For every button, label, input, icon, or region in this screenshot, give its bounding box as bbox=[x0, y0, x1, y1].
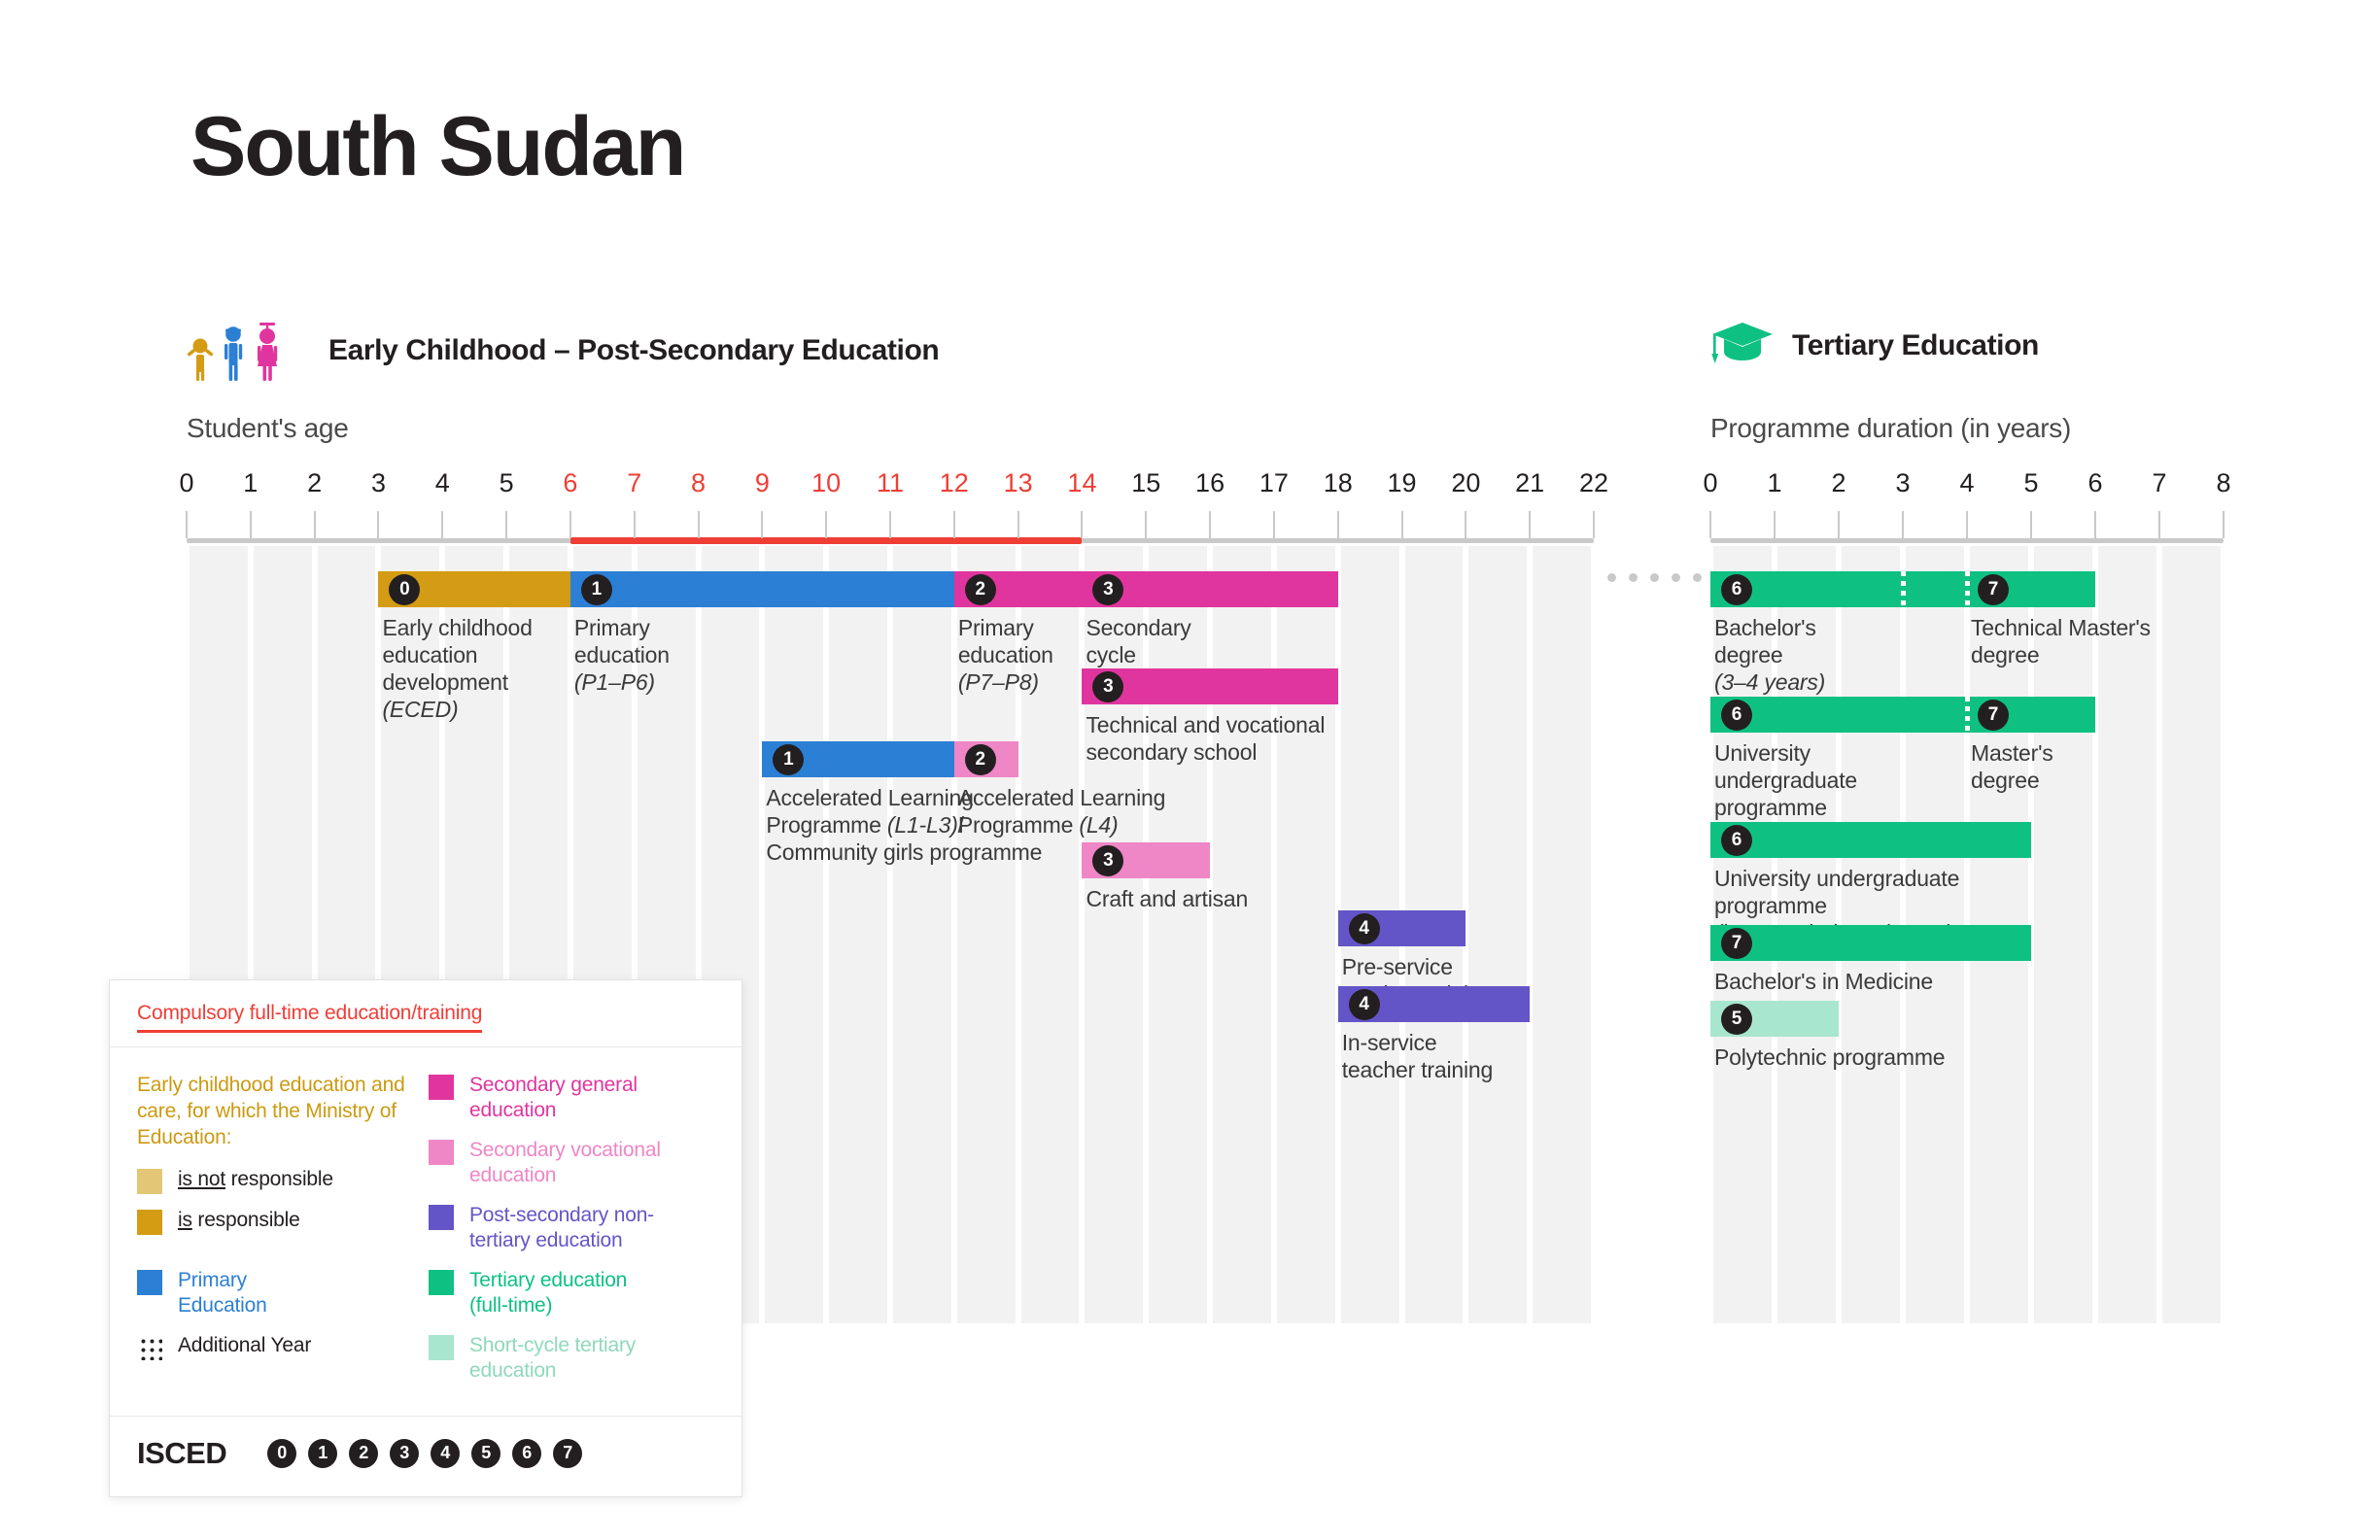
bar-label: Master'sdegree bbox=[1971, 739, 2053, 794]
axis-tick bbox=[2094, 511, 2096, 538]
bar-pre-service-teacher-training[interactable]: 4 bbox=[1338, 910, 1466, 946]
page-title: South Sudan bbox=[190, 105, 684, 188]
isced-chip-6: 6 bbox=[512, 1439, 541, 1468]
axis-tick bbox=[1774, 511, 1776, 538]
additional-year-separator bbox=[1901, 571, 1906, 607]
axis-tick-label-5: 5 bbox=[500, 468, 514, 498]
isced-badge-3: 3 bbox=[1092, 845, 1123, 876]
bar-label: Polytechnic programme bbox=[1714, 1044, 1945, 1071]
isced-badge-5: 5 bbox=[1721, 1004, 1752, 1035]
bar-primary-education[interactable]: 1 bbox=[570, 571, 954, 607]
axis-tick-label-17: 17 bbox=[1259, 468, 1289, 498]
bar-in-service-teacher-training[interactable]: 4 bbox=[1338, 986, 1530, 1022]
bar-label: Early childhoodeducationdevelopment(ECED… bbox=[382, 614, 532, 723]
legend-item-secondary-vocational: Secondary vocational education bbox=[429, 1138, 710, 1189]
isced-chip-1: 1 bbox=[308, 1439, 337, 1468]
axis-tick-label-1: 1 bbox=[1767, 468, 1781, 498]
axis-tick-label-10: 10 bbox=[811, 468, 841, 498]
axis-tick-label-19: 19 bbox=[1388, 468, 1417, 498]
legend-compulsory-label: Compulsory full-time education/training bbox=[137, 1002, 482, 1033]
legend-item-short-cycle: Short-cycle tertiary education bbox=[429, 1333, 710, 1385]
swatch-primary bbox=[137, 1270, 162, 1295]
axis-tick bbox=[634, 511, 636, 538]
axis-tick-label-16: 16 bbox=[1195, 468, 1224, 498]
isced-chip-5: 5 bbox=[471, 1439, 500, 1468]
legend-item-primary: Primary Education bbox=[137, 1268, 429, 1319]
swatch-secondary-vocational bbox=[429, 1140, 454, 1165]
swatch-short-cycle bbox=[429, 1335, 454, 1360]
axis-tick-label-8: 8 bbox=[691, 468, 706, 498]
legend-item-post-secondary: Post-secondary non-tertiary education bbox=[429, 1203, 710, 1254]
axis-tick bbox=[2030, 511, 2032, 538]
legend-compulsory-row: Compulsory full-time education/training bbox=[110, 980, 742, 1047]
axis-tick-label-7: 7 bbox=[627, 468, 641, 498]
bar-accelerated-learning-programme-l4[interactable]: 2 bbox=[954, 741, 1018, 777]
axis-tick-label-21: 21 bbox=[1515, 468, 1544, 498]
isced-badge-3: 3 bbox=[1092, 574, 1123, 605]
axis-tick bbox=[377, 511, 379, 538]
swatch-is-responsible bbox=[137, 1210, 162, 1235]
grid-column bbox=[893, 546, 951, 1323]
bar-technical-master-s-degree[interactable]: 7 bbox=[1967, 571, 2095, 607]
axis-tick-label-6: 6 bbox=[2087, 468, 2102, 498]
isced-chip-2: 2 bbox=[349, 1439, 378, 1468]
bar-label: Bachelor'sdegree(3–4 years) bbox=[1714, 614, 1825, 696]
grid-column bbox=[765, 546, 823, 1323]
isced-chip-7: 7 bbox=[553, 1439, 582, 1468]
axis-tick-label-22: 22 bbox=[1579, 468, 1608, 498]
swatch-secondary-general bbox=[429, 1075, 454, 1100]
isced-badge-0: 0 bbox=[389, 574, 420, 605]
axis-tick bbox=[314, 511, 316, 538]
axis-tick bbox=[1593, 511, 1595, 538]
legend-panel: Compulsory full-time education/training … bbox=[109, 979, 742, 1497]
legend-additional-year-label: Additional Year bbox=[178, 1333, 311, 1358]
axis-tick bbox=[1018, 511, 1019, 538]
axis-tick-label-4: 4 bbox=[1959, 468, 1974, 498]
axis-rule bbox=[1710, 538, 2224, 543]
isced-chip-list: 01234567 bbox=[267, 1439, 582, 1468]
axis-tick bbox=[2158, 511, 2160, 538]
grid-column bbox=[2162, 546, 2221, 1323]
grid-column bbox=[1277, 546, 1335, 1323]
axis-tick bbox=[1209, 511, 1211, 538]
isced-badge-3: 3 bbox=[1092, 671, 1123, 702]
grid-column bbox=[1213, 546, 1271, 1323]
legend-secondary-vocational-label: Secondary vocational education bbox=[469, 1138, 664, 1189]
axis-tick-label-2: 2 bbox=[307, 468, 322, 498]
isced-badge-6: 6 bbox=[1721, 825, 1752, 856]
compulsory-range-rule bbox=[570, 537, 1083, 544]
axis-tick bbox=[1838, 511, 1840, 538]
legend-is-not-responsible-suffix: responsible bbox=[225, 1168, 333, 1190]
bar-technical-and-vocational-secondary-school[interactable]: 3 bbox=[1082, 668, 1337, 704]
bar-label: Technical Master'sdegree bbox=[1971, 614, 2151, 668]
legend-post-secondary-label: Post-secondary non-tertiary education bbox=[469, 1203, 678, 1254]
axis-tick bbox=[698, 511, 700, 538]
isced-badge-2: 2 bbox=[965, 744, 996, 775]
axis-tick-label-7: 7 bbox=[2152, 468, 2166, 498]
right-section-header: Tertiary Education bbox=[1710, 321, 2039, 370]
axis-tick-label-2: 2 bbox=[1831, 468, 1845, 498]
axis-tick bbox=[889, 511, 891, 538]
bar-label: Accelerated LearningProgramme (L4) bbox=[958, 784, 1165, 838]
swatch-is-not-responsible bbox=[137, 1169, 162, 1194]
isced-badge-7: 7 bbox=[1978, 700, 2009, 731]
axis-tick bbox=[1902, 511, 1904, 538]
grid-column bbox=[829, 546, 887, 1323]
axis-tick-label-0: 0 bbox=[179, 468, 193, 498]
bar-label: In-serviceteacher training bbox=[1342, 1029, 1493, 1083]
isced-badge-4: 4 bbox=[1349, 989, 1380, 1020]
legend-is-responsible-suffix: responsible bbox=[192, 1209, 300, 1231]
bar-early-childhood-education-development[interactable]: 0 bbox=[378, 571, 569, 607]
additional-year-separator bbox=[1965, 697, 1970, 733]
axis-tick bbox=[953, 511, 955, 538]
axis-tick bbox=[1465, 511, 1466, 538]
grid-column bbox=[1533, 546, 1591, 1323]
bar-accelerated-learning-programme-l1-l3-community-girls-programme[interactable]: 1 bbox=[762, 741, 953, 777]
axis-tick bbox=[1401, 511, 1403, 538]
additional-year-icon bbox=[137, 1335, 162, 1360]
bar-label: Craft and artisan bbox=[1086, 885, 1248, 912]
isced-chip-3: 3 bbox=[390, 1439, 419, 1468]
axis-tick bbox=[1145, 511, 1147, 538]
isced-label: ISCED bbox=[137, 1436, 226, 1471]
legend-item-additional-year: Additional Year bbox=[137, 1333, 429, 1360]
isced-chip-0: 0 bbox=[267, 1439, 296, 1468]
isced-badge-2: 2 bbox=[965, 574, 996, 605]
axis-tick-label-14: 14 bbox=[1067, 468, 1096, 498]
axis-tick bbox=[186, 511, 188, 538]
bar-secondary-cycle[interactable]: 3 bbox=[1082, 571, 1337, 607]
grid-column bbox=[1468, 546, 1527, 1323]
axis-tick bbox=[569, 511, 571, 538]
legend-column-right: Secondary general education Secondary vo… bbox=[429, 1073, 710, 1398]
isced-badge-1: 1 bbox=[581, 574, 612, 605]
left-section-header: Early Childhood – Post-Secondary Educati… bbox=[185, 321, 939, 381]
right-axis-caption: Programme duration (in years) bbox=[1710, 413, 2071, 444]
axis-tick-label-1: 1 bbox=[243, 468, 258, 498]
axis-tick-label-4: 4 bbox=[435, 468, 450, 498]
additional-year-separator bbox=[1965, 571, 1970, 607]
isced-badge-6: 6 bbox=[1721, 574, 1752, 605]
bar-bachelor-s-degree[interactable]: 6 bbox=[1710, 571, 1967, 607]
bar-label: Primaryeducation(P7–P8) bbox=[958, 614, 1053, 696]
axis-tick-label-20: 20 bbox=[1451, 468, 1480, 498]
axis-tick bbox=[825, 511, 827, 538]
axis-tick-label-3: 3 bbox=[371, 468, 386, 498]
axis-tick-label-13: 13 bbox=[1004, 468, 1033, 498]
bar-university-undergraduate-programme[interactable]: 6 bbox=[1710, 697, 1967, 733]
axis-tick bbox=[1966, 511, 1968, 538]
axis-tick bbox=[1337, 511, 1339, 538]
legend-item-is-responsible: is responsible bbox=[137, 1208, 429, 1235]
left-section-title: Early Childhood – Post-Secondary Educati… bbox=[328, 334, 939, 367]
bar-polytechnic-programme[interactable]: 5 bbox=[1710, 1001, 1839, 1037]
legend-tertiary-label: Tertiary education (full-time) bbox=[469, 1268, 649, 1319]
axis-tick bbox=[1081, 511, 1083, 538]
right-section-title: Tertiary Education bbox=[1792, 329, 2039, 362]
isced-badge-4: 4 bbox=[1349, 913, 1380, 944]
legend-item-is-not-responsible: is not responsible bbox=[137, 1167, 429, 1194]
bar-bachelor-s-in-medicine[interactable]: 7 bbox=[1710, 925, 2031, 961]
bar-label: Technical and vocationalsecondary school bbox=[1086, 711, 1325, 766]
axis-tick-label-0: 0 bbox=[1703, 468, 1717, 498]
legend-is-responsible-prefix: is bbox=[178, 1209, 192, 1231]
axis-tick-label-9: 9 bbox=[755, 468, 770, 498]
legend-item-secondary-general: Secondary general education bbox=[429, 1073, 710, 1124]
axis-tick bbox=[761, 511, 763, 538]
axis-tick bbox=[505, 511, 507, 538]
legend-item-tertiary: Tertiary education (full-time) bbox=[429, 1268, 710, 1319]
axis-tick-label-18: 18 bbox=[1324, 468, 1353, 498]
axis-tick bbox=[441, 511, 443, 538]
axis-ellipsis bbox=[1607, 573, 1702, 582]
bar-university-undergraduate-programme[interactable]: 6 bbox=[1710, 822, 2031, 858]
isced-badge-1: 1 bbox=[773, 744, 804, 775]
isced-chip-4: 4 bbox=[431, 1439, 460, 1468]
axis-tick-label-11: 11 bbox=[877, 468, 904, 498]
left-axis-caption: Student's age bbox=[187, 413, 348, 444]
axis-tick bbox=[1709, 511, 1711, 538]
bar-primary-education[interactable]: 2 bbox=[954, 571, 1083, 607]
isced-badge-7: 7 bbox=[1978, 574, 2009, 605]
legend-primary-label: Primary Education bbox=[178, 1268, 304, 1319]
legend-ece-heading: Early childhood education and care, for … bbox=[137, 1073, 429, 1151]
isced-badge-6: 6 bbox=[1721, 700, 1752, 731]
right-chart-panel: 0123456786Bachelor'sdegree(3–4 years)7Te… bbox=[1710, 525, 2224, 1351]
axis-tick bbox=[1529, 511, 1531, 538]
axis-tick-label-3: 3 bbox=[1895, 468, 1910, 498]
bar-master-s-degree[interactable]: 7 bbox=[1967, 697, 2095, 733]
legend-short-cycle-label: Short-cycle tertiary education bbox=[469, 1333, 664, 1385]
legend-is-not-responsible-prefix: is not bbox=[178, 1168, 225, 1190]
axis-tick-label-6: 6 bbox=[563, 468, 577, 498]
swatch-tertiary bbox=[429, 1270, 454, 1295]
axis-tick-label-5: 5 bbox=[2023, 468, 2038, 498]
family-people-icon bbox=[185, 321, 311, 381]
axis-tick-label-12: 12 bbox=[940, 468, 969, 498]
isced-badge-7: 7 bbox=[1721, 928, 1752, 959]
axis-tick-label-15: 15 bbox=[1131, 468, 1160, 498]
axis-tick bbox=[2223, 511, 2225, 538]
swatch-post-secondary bbox=[429, 1205, 454, 1230]
axis-tick bbox=[1273, 511, 1275, 538]
bar-label: Bachelor's in Medicine bbox=[1714, 968, 1933, 995]
legend-secondary-general-label: Secondary general education bbox=[469, 1073, 710, 1124]
axis-tick bbox=[250, 511, 252, 538]
graduation-cap-icon bbox=[1710, 321, 1775, 370]
axis-tick-label-8: 8 bbox=[2216, 468, 2230, 498]
legend-isced-row: ISCED 01234567 bbox=[110, 1416, 742, 1496]
bar-craft-and-artisan[interactable]: 3 bbox=[1082, 842, 1210, 878]
bar-label: Primaryeducation(P1–P6) bbox=[574, 614, 670, 696]
legend-column-left: Early childhood education and care, for … bbox=[137, 1073, 429, 1398]
